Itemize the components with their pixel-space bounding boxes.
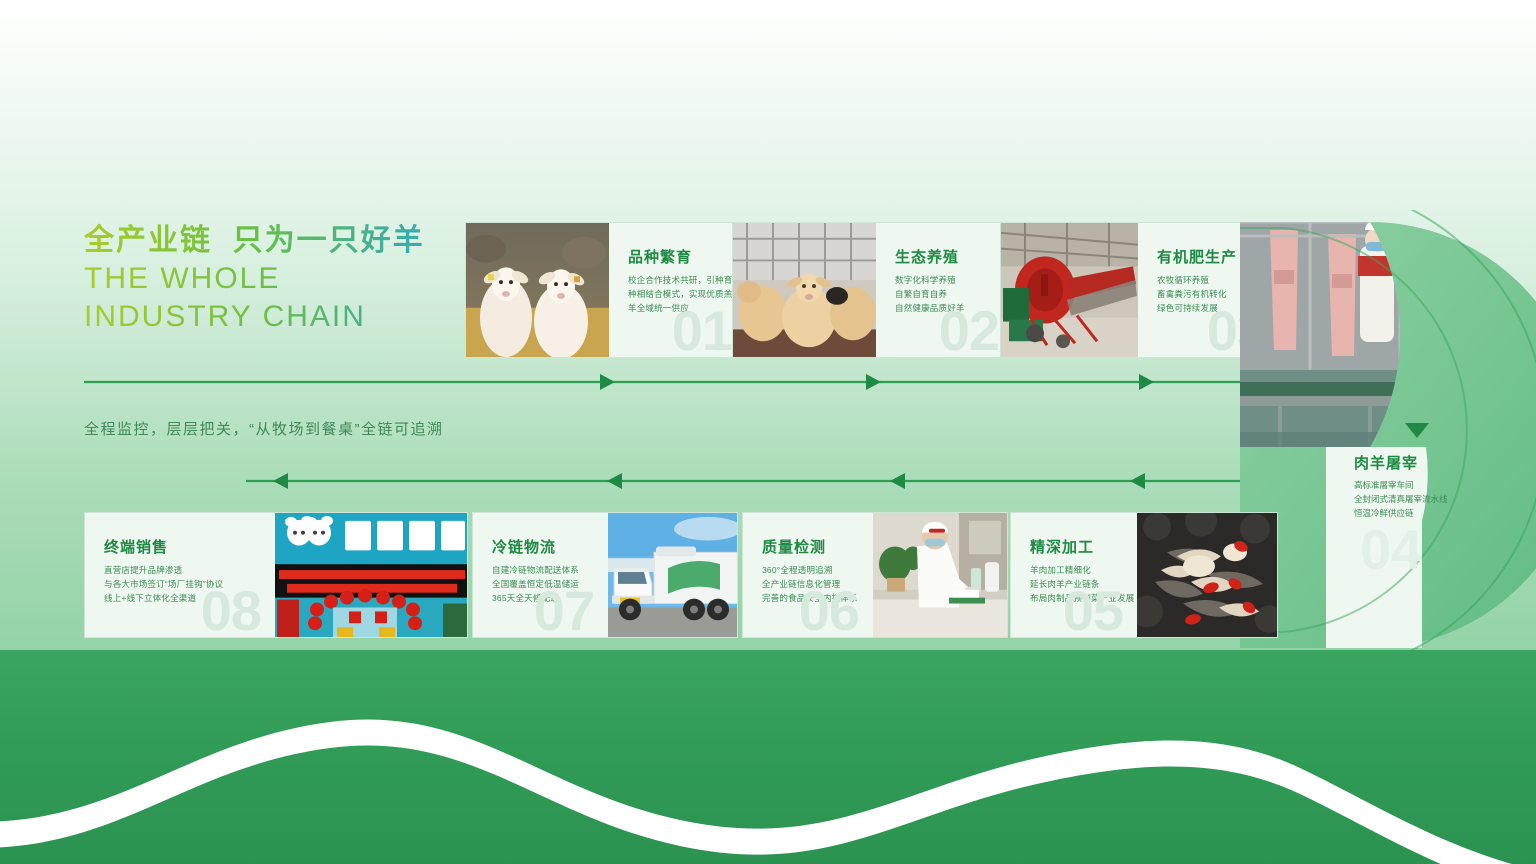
arrow-head-left xyxy=(607,473,622,489)
arrow-head-right xyxy=(1139,374,1154,390)
lab-inspection-photo xyxy=(873,513,1008,637)
arrow-head-right xyxy=(866,374,881,390)
step-card-02[interactable]: 生态养殖 数字化科学养殖自繁自育自养自然健康品质好羊 02 xyxy=(732,222,1012,358)
step-number: 02 xyxy=(939,303,999,358)
step-card-06[interactable]: 质量检测 360°全程透明追溯全产业链信息化管理完善的食品安全内控体系 06 xyxy=(742,512,1008,638)
step-title: 终端销售 xyxy=(104,536,168,557)
arrow-head-right xyxy=(600,374,615,390)
arrow-head-left xyxy=(1130,473,1145,489)
step-card-05[interactable]: 精深加工 羊肉加工精细化延长肉羊产业链条布局肉制品预制菜产业发展 05 xyxy=(1010,512,1278,638)
processed-meat-dish-photo xyxy=(1137,513,1278,637)
step-card-03[interactable]: 有机肥生产 农牧循环养殖畜禽粪污有机转化绿色可持续发展 03 xyxy=(1000,222,1280,358)
step-title: 品种繁育 xyxy=(628,246,692,267)
step-number: 08 xyxy=(201,583,261,638)
refrigerated-truck-photo xyxy=(608,513,738,637)
step-title: 质量检测 xyxy=(762,536,826,557)
retail-storefront-photo xyxy=(275,513,468,637)
decorative-wave-ribbon xyxy=(0,640,1536,864)
step-number: 07 xyxy=(534,583,594,638)
arrow-head-left xyxy=(273,473,288,489)
step-card-08[interactable]: 终端销售 直营店提升品牌渗透与各大市场签订“场厂挂钩”协议线上+线下立体化全渠道… xyxy=(84,512,468,638)
step-number: 05 xyxy=(1063,583,1123,638)
step-description: 高标准屠宰车间全封闭式清真屠宰流水线恒温冷鲜供应链 xyxy=(1354,478,1448,520)
step-card-07[interactable]: 冷链物流 自建冷链物流配送体系全国覆盖恒定低温储运365天全天候配送 07 xyxy=(472,512,738,638)
step-title: 有机肥生产 xyxy=(1157,246,1237,267)
step-number: 04 xyxy=(1360,522,1422,578)
step-title: 精深加工 xyxy=(1030,536,1094,557)
step-number: 06 xyxy=(799,583,859,638)
step-card-01[interactable]: 品种繁育 校企合作技术共研，引种育种相结合模式，实现优质羔羊全域统一供应 01 xyxy=(465,222,745,358)
sheep-barn-photo xyxy=(733,223,876,357)
step-title: 冷链物流 xyxy=(492,536,556,557)
step-title: 生态养殖 xyxy=(895,246,959,267)
fertilizer-plant-photo xyxy=(1001,223,1138,357)
step-card-04[interactable] xyxy=(1240,210,1536,660)
arrow-head-left xyxy=(890,473,905,489)
lambs-in-pen-photo xyxy=(466,223,609,357)
step-title: 肉羊屠宰 xyxy=(1354,452,1418,473)
step-number: 01 xyxy=(672,303,732,358)
